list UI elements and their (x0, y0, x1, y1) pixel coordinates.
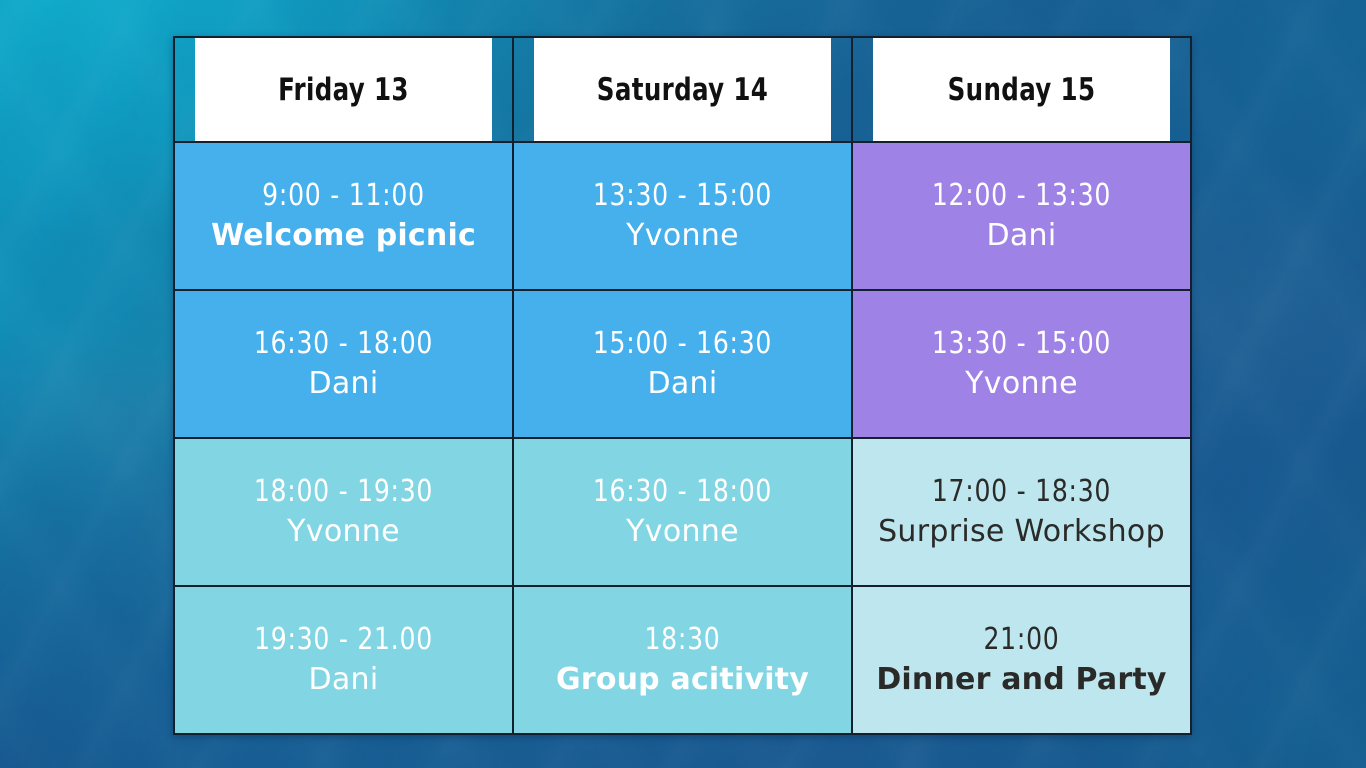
schedule-cell-title: Yvonne (522, 216, 843, 255)
schedule-cell-time: 13:30 - 15:00 (533, 177, 832, 214)
schedule-row: 18:00 - 19:30Yvonne16:30 - 18:00Yvonne17… (174, 438, 1191, 586)
schedule-cell[interactable]: 18:00 - 19:30Yvonne (174, 438, 513, 586)
schedule-cell-time: 17:00 - 18:30 (872, 473, 1171, 510)
schedule-cell-title: Dani (183, 660, 504, 699)
schedule-cell[interactable]: 9:00 - 11:00Welcome picnic (174, 142, 513, 290)
schedule-row: 16:30 - 18:00Dani15:00 - 16:30Dani13:30 … (174, 290, 1191, 438)
schedule-cell-title: Dani (183, 364, 504, 403)
schedule-cell-time: 9:00 - 11:00 (194, 177, 493, 214)
schedule-cell[interactable]: 12:00 - 13:30Dani (852, 142, 1191, 290)
schedule-cell[interactable]: 13:30 - 15:00Yvonne (513, 142, 852, 290)
schedule-cell-time: 19:30 - 21.00 (194, 621, 493, 658)
schedule-cell[interactable]: 17:00 - 18:30Surprise Workshop (852, 438, 1191, 586)
schedule-cell-title: Yvonne (522, 512, 843, 551)
schedule-table-container: Friday 13 Saturday 14 Sunday 15 9:00 - 1… (173, 36, 1192, 726)
schedule-cell-title: Yvonne (183, 512, 504, 551)
schedule-cell-title: Dinner and Party (861, 660, 1182, 699)
header-row: Friday 13 Saturday 14 Sunday 15 (174, 37, 1191, 142)
schedule-cell-time: 18:00 - 19:30 (194, 473, 493, 510)
schedule-table-body: 9:00 - 11:00Welcome picnic13:30 - 15:00Y… (174, 142, 1191, 734)
schedule-cell-title: Welcome picnic (183, 216, 504, 255)
column-header-day-3: Sunday 15 (872, 37, 1170, 142)
schedule-cell-time: 13:30 - 15:00 (872, 325, 1171, 362)
column-header-day-2: Saturday 14 (533, 37, 831, 142)
schedule-cell[interactable]: 16:30 - 18:00Yvonne (513, 438, 852, 586)
schedule-cell[interactable]: 21:00Dinner and Party (852, 586, 1191, 734)
schedule-cell-time: 16:30 - 18:00 (194, 325, 493, 362)
schedule-row: 19:30 - 21.00Dani18:30Group acitivity21:… (174, 586, 1191, 734)
schedule-cell[interactable]: 18:30Group acitivity (513, 586, 852, 734)
schedule-cell-time: 12:00 - 13:30 (872, 177, 1171, 214)
schedule-cell[interactable]: 13:30 - 15:00Yvonne (852, 290, 1191, 438)
schedule-cell[interactable]: 15:00 - 16:30Dani (513, 290, 852, 438)
column-header-day-1: Friday 13 (194, 37, 492, 142)
schedule-row: 9:00 - 11:00Welcome picnic13:30 - 15:00Y… (174, 142, 1191, 290)
schedule-table-header: Friday 13 Saturday 14 Sunday 15 (174, 37, 1191, 142)
schedule-cell-title: Dani (861, 216, 1182, 255)
schedule-cell-time: 15:00 - 16:30 (533, 325, 832, 362)
schedule-cell-title: Surprise Workshop (861, 512, 1182, 551)
schedule-cell-title: Yvonne (861, 364, 1182, 403)
schedule-cell-time: 18:30 (533, 621, 832, 658)
schedule-cell-time: 21:00 (872, 621, 1171, 658)
schedule-cell[interactable]: 16:30 - 18:00Dani (174, 290, 513, 438)
schedule-cell-time: 16:30 - 18:00 (533, 473, 832, 510)
schedule-cell-title: Group acitivity (522, 660, 843, 699)
schedule-cell[interactable]: 19:30 - 21.00Dani (174, 586, 513, 734)
schedule-table: Friday 13 Saturday 14 Sunday 15 9:00 - 1… (173, 36, 1192, 735)
schedule-cell-title: Dani (522, 364, 843, 403)
